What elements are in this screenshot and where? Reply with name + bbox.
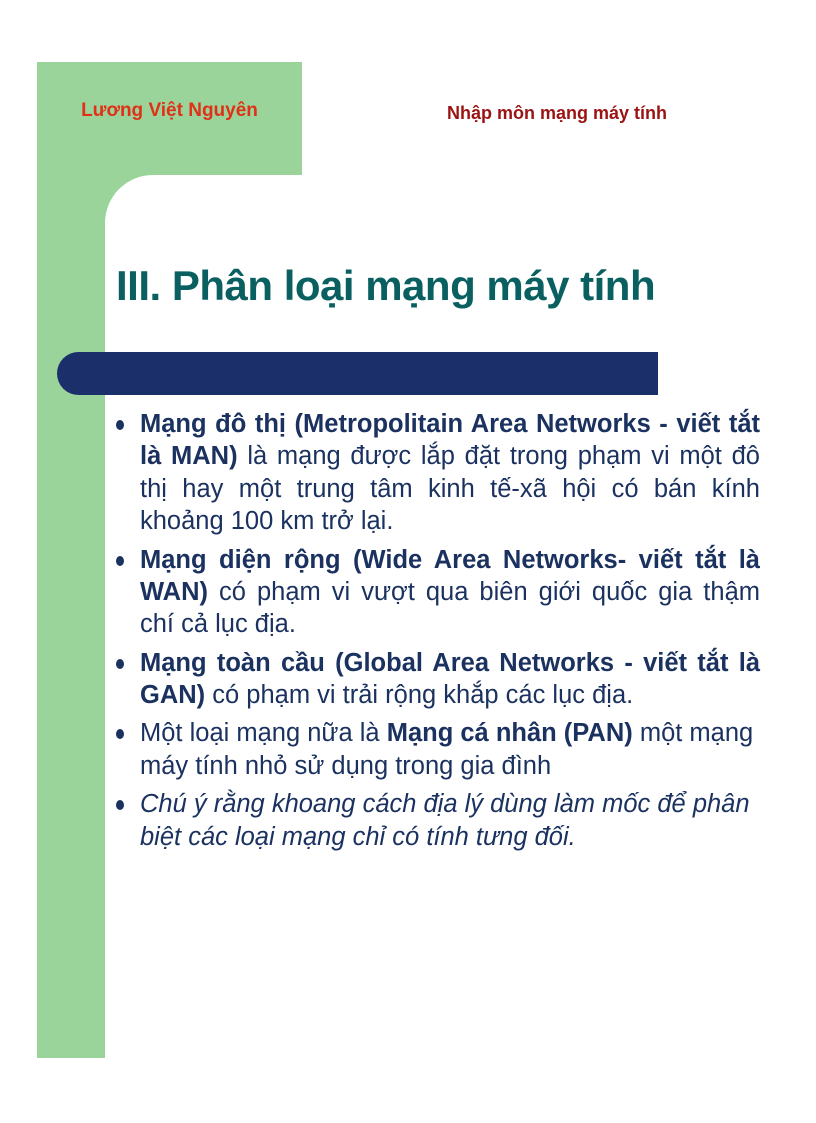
list-item-text: Mạng đô thị (Metropolitain Area Networks…: [140, 408, 760, 538]
header-author: Lương Việt Nguyên: [37, 100, 302, 122]
list-item: Mạng toàn cầu (Global Area Networks - vi…: [112, 647, 760, 712]
bullet-dot-icon: [116, 800, 124, 810]
list-item-text: Chú ý rằng khoang cách địa lý dùng làm m…: [140, 788, 760, 853]
page-title: III. Phân loại mạng máy tính: [116, 262, 655, 310]
bullet-list: Mạng đô thị (Metropolitain Area Networks…: [112, 408, 760, 859]
title-accent-bar: [57, 352, 658, 395]
list-item-text: Một loại mạng nữa là Mạng cá nhân (PAN) …: [140, 717, 760, 782]
list-item: Một loại mạng nữa là Mạng cá nhân (PAN) …: [112, 717, 760, 782]
list-item: Mạng đô thị (Metropolitain Area Networks…: [112, 408, 760, 538]
list-item: Mạng diện rộng (Wide Area Networks- viết…: [112, 544, 760, 641]
green-corner-notch: [105, 175, 153, 223]
bullet-dot-icon: [116, 729, 124, 739]
bullet-dot-icon: [116, 659, 124, 669]
green-side-bar: [37, 175, 105, 1058]
list-item-text: Mạng toàn cầu (Global Area Networks - vi…: [140, 647, 760, 712]
list-item-text: Mạng diện rộng (Wide Area Networks- viết…: [140, 544, 760, 641]
bullet-dot-icon: [116, 556, 124, 566]
bullet-dot-icon: [116, 420, 124, 430]
header-course-title: Nhập môn mạng máy tính: [447, 103, 667, 124]
list-item: Chú ý rằng khoang cách địa lý dùng làm m…: [112, 788, 760, 853]
